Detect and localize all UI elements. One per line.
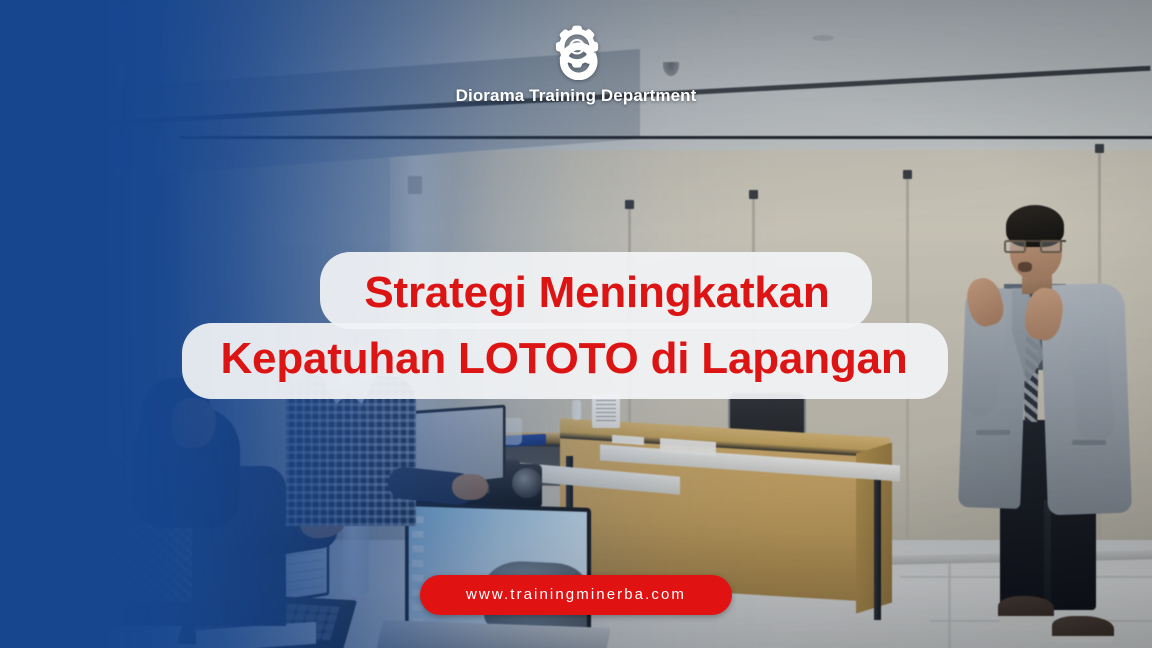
title-line-2: Kepatuhan LOTOTO di Lapangan [182, 323, 947, 399]
table-leg [874, 470, 881, 620]
presenter-shoe-left-sole [998, 616, 1054, 623]
attendee-batik-hand [452, 474, 488, 500]
projector-lens [512, 468, 542, 498]
website-url-badge[interactable]: www.trainingminerba.com [420, 575, 732, 615]
partition-seam-cap [903, 170, 912, 179]
water-bottle-neck [572, 400, 581, 420]
gear-d-logo-icon [547, 22, 605, 80]
floor-tile-line [948, 560, 951, 648]
table-tent-card-text [596, 400, 616, 422]
partition-track [180, 136, 1152, 139]
attendee-hijab-face [172, 398, 216, 448]
wall-sign [408, 176, 422, 194]
partition-seam-cap [1095, 144, 1104, 153]
title-block: Strategi Meningkatkan Kepatuhan LOTOTO d… [0, 252, 1152, 399]
brand-title: Diorama Training Department [456, 86, 697, 106]
presenter-blazer-pocket [1072, 440, 1106, 445]
presenter-blazer-pocket [976, 430, 1010, 435]
presenter-leg-seam [1044, 500, 1051, 610]
thumbnail-canvas: Diorama Training Department Strategi Men… [0, 0, 1152, 648]
presenter-shoe-right-sole [1052, 636, 1114, 643]
partition-seam-cap [749, 190, 758, 199]
partition-seam-cap [625, 200, 634, 209]
header: Diorama Training Department [0, 22, 1152, 106]
title-line-1: Strategi Meningkatkan [320, 252, 871, 329]
laptop-center-desktop-icons [412, 516, 423, 622]
